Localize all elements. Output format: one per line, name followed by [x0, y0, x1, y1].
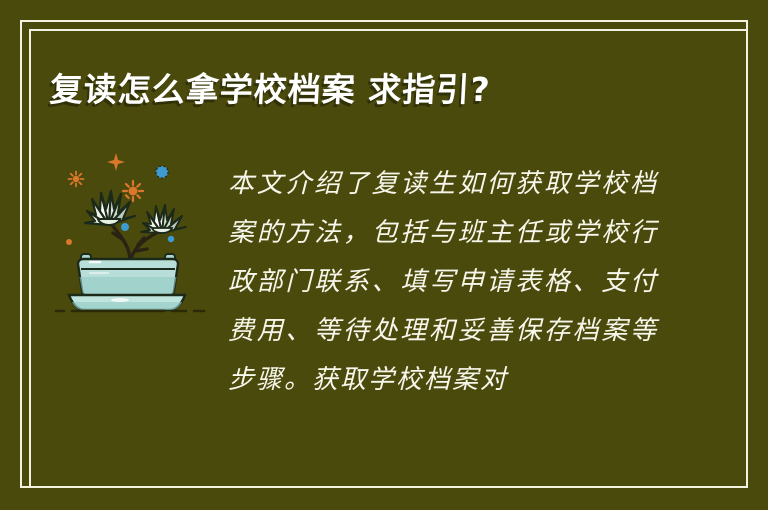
sparkle-dot-blue-2	[168, 236, 174, 242]
page-title: 复读怎么拿学校档案 求指引?	[49, 63, 492, 111]
flower-pot	[69, 254, 185, 310]
sparkle-dot-orange	[66, 239, 72, 245]
poster-canvas: 复读怎么拿学校档案 求指引?	[0, 0, 768, 510]
frame-mask-bottom	[0, 488, 768, 510]
potted-flower-illustration	[52, 145, 217, 315]
body-paragraph: 本文介绍了复读生如何获取学校档案的方法，包括与班主任或学校行政部门联系、填写申请…	[228, 160, 658, 405]
flower-right	[141, 205, 186, 233]
sparkle-dot-blue	[121, 223, 129, 231]
frame-mask-right	[748, 0, 768, 510]
